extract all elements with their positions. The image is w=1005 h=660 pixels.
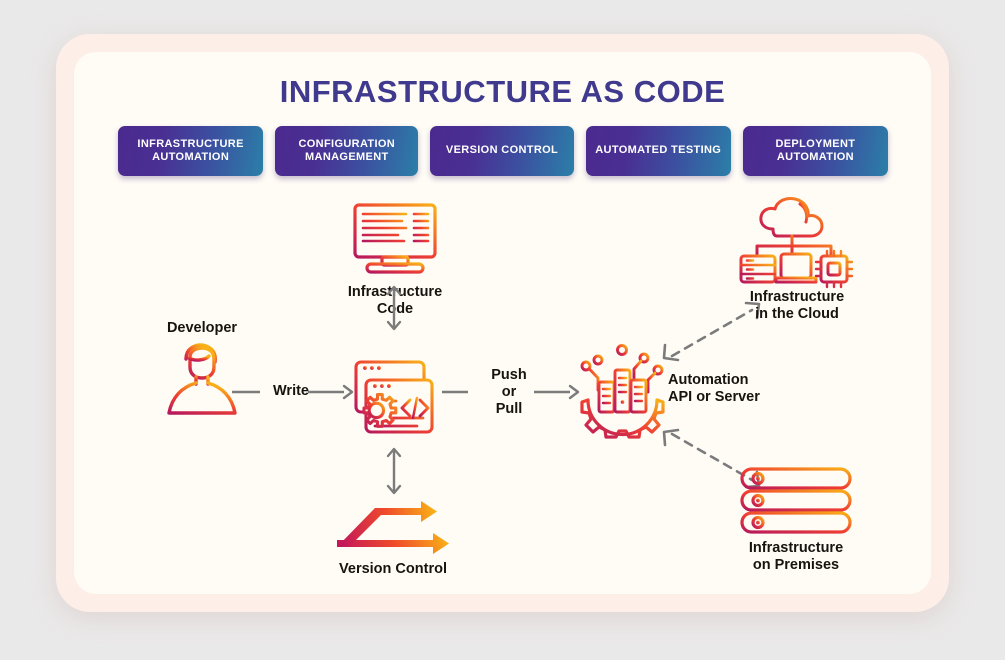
node-developer-label: Developer — [152, 320, 252, 337]
node-infrastructure-cloud-label: Infrastructure in the Cloud — [727, 289, 867, 323]
page-title: INFRASTRUCTURE AS CODE — [0, 74, 1005, 110]
diagram-canvas: INFRASTRUCTURE AS CODE INFRASTRUCTURE AU… — [0, 0, 1005, 660]
badge-configuration-management[interactable]: CONFIGURATION MANAGEMENT — [275, 126, 418, 176]
node-infrastructure-premises[interactable]: Infrastructure on Premises — [726, 465, 866, 574]
badge-row: INFRASTRUCTURE AUTOMATION CONFIGURATION … — [118, 126, 888, 176]
connector-write-label: Write — [258, 383, 324, 400]
connector-code-to-version-control — [385, 448, 403, 494]
cloud-devices-icon — [727, 196, 867, 286]
node-version-control[interactable]: Version Control — [323, 496, 463, 578]
server-rack-icon — [726, 465, 866, 535]
connector-code-to-monitor — [385, 286, 403, 330]
node-automation-server-label: Automation API or Server — [668, 372, 804, 406]
badge-deployment-automation[interactable]: DEPLOYMENT AUTOMATION — [743, 126, 888, 176]
developer-person-icon — [152, 337, 252, 419]
badge-version-control[interactable]: VERSION CONTROL — [430, 126, 573, 176]
branch-arrows-icon — [323, 496, 463, 558]
monitor-code-icon — [338, 198, 452, 280]
badge-infrastructure-automation[interactable]: INFRASTRUCTURE AUTOMATION — [118, 126, 263, 176]
node-developer[interactable]: Developer — [152, 320, 252, 419]
node-infrastructure-cloud[interactable]: Infrastructure in the Cloud — [727, 196, 867, 323]
badge-automated-testing[interactable]: AUTOMATED TESTING — [586, 126, 731, 176]
code-windows-gear-icon — [334, 356, 444, 442]
node-code-editor[interactable] — [334, 356, 444, 442]
gear-server-network-icon — [572, 338, 672, 438]
connector-push-or-pull-label: Push or Pull — [472, 367, 546, 417]
node-version-control-label: Version Control — [323, 561, 463, 578]
node-infrastructure-premises-label: Infrastructure on Premises — [726, 540, 866, 574]
node-automation-server[interactable] — [572, 338, 672, 438]
